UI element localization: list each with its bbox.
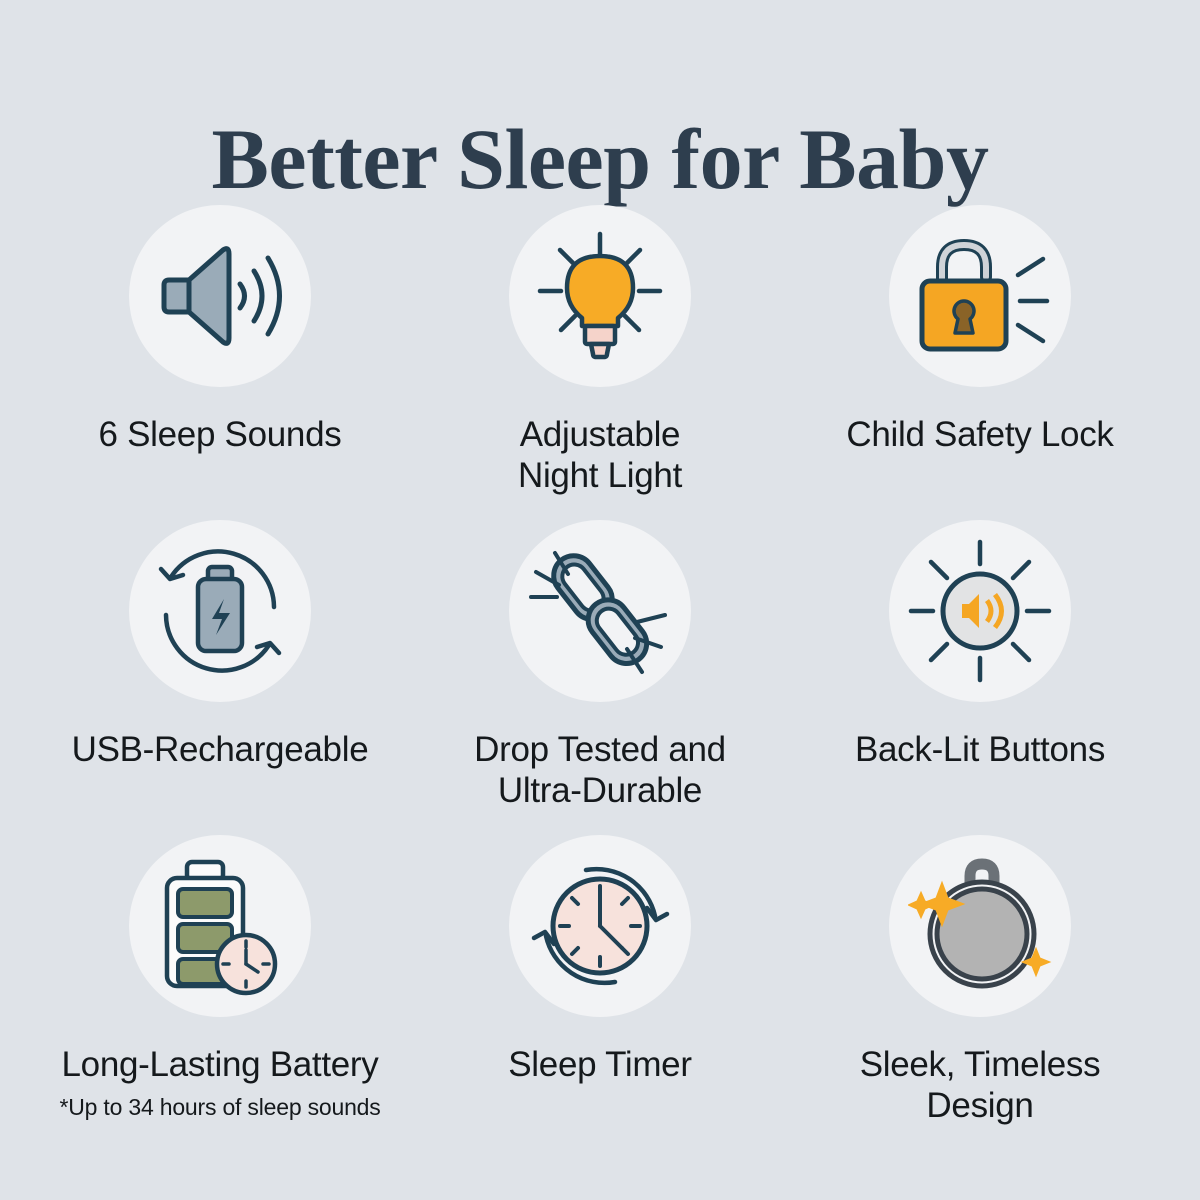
feature-cell-usb-rechargeable: USB-Rechargeable (30, 520, 410, 835)
icon-circle (509, 205, 691, 387)
feature-cell-back-lit-buttons: Back-Lit Buttons (790, 520, 1170, 835)
feature-label: Adjustable Night Light (518, 415, 682, 496)
clock-cycle-icon (528, 856, 673, 996)
speaker-waves-icon (155, 236, 285, 356)
feature-cell-child-safety-lock: Child Safety Lock (790, 205, 1170, 520)
feature-label: Sleek, Timeless Design (860, 1045, 1101, 1126)
padlock-icon (910, 231, 1050, 361)
icon-circle (129, 835, 311, 1017)
feature-cell-sleep-sounds: 6 Sleep Sounds (30, 205, 410, 520)
feature-label: Child Safety Lock (846, 415, 1113, 456)
feature-label: 6 Sleep Sounds (99, 415, 342, 456)
feature-cell-long-lasting-battery: Long-Lasting Battery *Up to 34 hours of … (30, 835, 410, 1150)
icon-circle (129, 520, 311, 702)
feature-cell-sleek-design: Sleek, Timeless Design (790, 835, 1170, 1150)
feature-cell-night-light: Adjustable Night Light (410, 205, 790, 520)
backlit-speaker-button-icon (905, 536, 1055, 686)
feature-label: Drop Tested and Ultra-Durable (474, 730, 726, 811)
battery-recycle-icon (150, 541, 290, 681)
feature-label: Sleep Timer (508, 1045, 691, 1086)
icon-circle (509, 835, 691, 1017)
battery-clock-icon (153, 856, 288, 996)
icon-circle (889, 205, 1071, 387)
chain-link-icon (525, 539, 675, 684)
feature-cell-sleep-timer: Sleep Timer (410, 835, 790, 1150)
lightbulb-icon (530, 226, 670, 366)
feature-grid: 6 Sleep Sounds (30, 205, 1170, 1150)
icon-circle (129, 205, 311, 387)
page-title: Better Sleep for Baby (0, 114, 1200, 204)
icon-circle (509, 520, 691, 702)
feature-sublabel: *Up to 34 hours of sleep sounds (59, 1094, 380, 1122)
icon-circle (889, 835, 1071, 1017)
icon-circle (889, 520, 1071, 702)
feature-label: USB-Rechargeable (72, 730, 369, 771)
sound-machine-sparkle-icon (908, 856, 1053, 996)
feature-cell-drop-tested: Drop Tested and Ultra-Durable (410, 520, 790, 835)
feature-label: Back-Lit Buttons (855, 730, 1105, 771)
feature-grid-page: Better Sleep for Baby 6 (0, 0, 1200, 1200)
feature-label: Long-Lasting Battery (62, 1045, 379, 1086)
